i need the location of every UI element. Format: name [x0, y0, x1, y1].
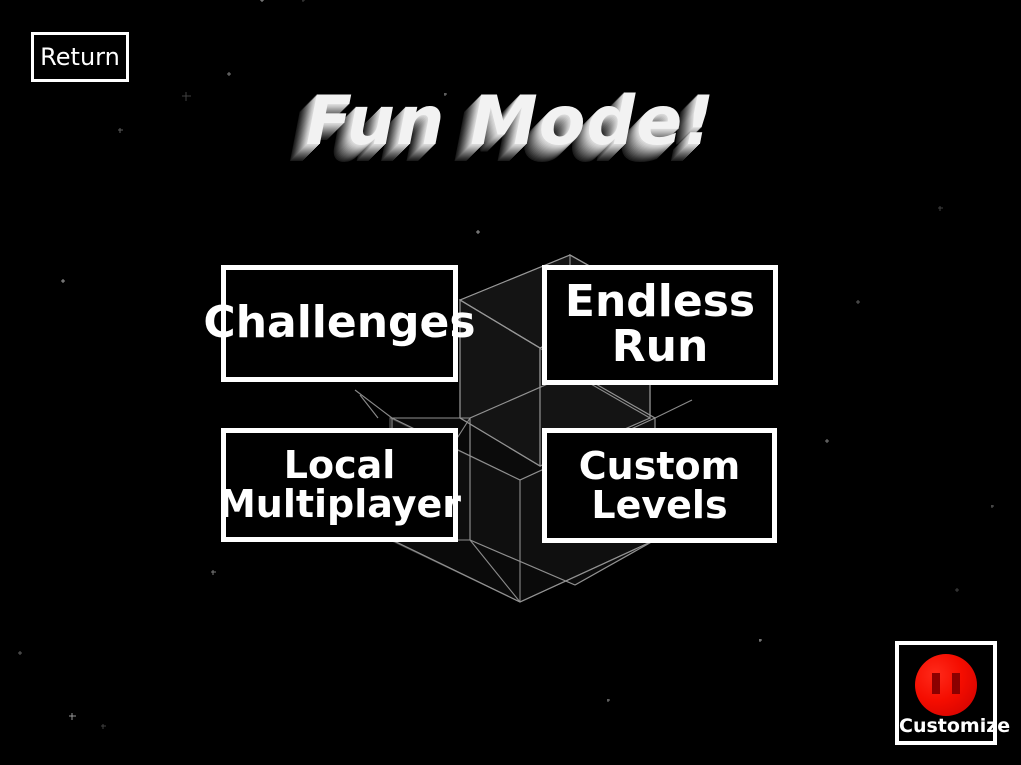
star-particle-icon — [607, 699, 610, 702]
custom-levels-button[interactable]: Custom Levels — [542, 428, 777, 543]
page-title: Fun Mode! — [306, 88, 716, 156]
local-multiplayer-button[interactable]: Local Multiplayer — [221, 428, 458, 542]
star-particle-icon — [302, 0, 305, 2]
star-particle-icon — [938, 206, 943, 211]
customize-button-label: Customize — [899, 715, 993, 737]
avatar-eye-right-icon — [952, 673, 960, 694]
star-particle-icon — [101, 724, 106, 729]
customize-button[interactable]: Customize — [895, 641, 997, 745]
star-particle-icon — [759, 639, 762, 642]
star-particle-icon — [955, 588, 959, 592]
star-particle-icon — [856, 300, 860, 304]
star-particle-icon — [227, 72, 231, 76]
return-button[interactable]: Return — [31, 32, 129, 82]
star-particle-icon — [69, 713, 76, 720]
title-container: Fun Mode! — [0, 88, 1021, 156]
endless-run-button[interactable]: Endless Run — [542, 265, 778, 385]
star-particle-icon — [18, 651, 22, 655]
star-particle-icon — [476, 230, 480, 234]
star-particle-icon — [211, 570, 216, 575]
return-button-label: Return — [40, 43, 120, 71]
star-particle-icon — [991, 505, 994, 508]
local-multiplayer-button-label: Local Multiplayer — [218, 446, 461, 524]
star-particle-icon — [61, 279, 65, 283]
game-menu-screen: Fun Mode! Return Challenges Endless Run … — [0, 0, 1021, 765]
endless-run-button-label: Endless Run — [547, 280, 773, 370]
challenges-button-label: Challenges — [203, 301, 475, 346]
custom-levels-button-label: Custom Levels — [579, 447, 740, 525]
star-particle-icon — [260, 0, 264, 2]
red-ball-character-icon — [915, 654, 977, 716]
star-particle-icon — [825, 439, 829, 443]
challenges-button[interactable]: Challenges — [221, 265, 458, 382]
avatar-eye-left-icon — [932, 673, 940, 694]
